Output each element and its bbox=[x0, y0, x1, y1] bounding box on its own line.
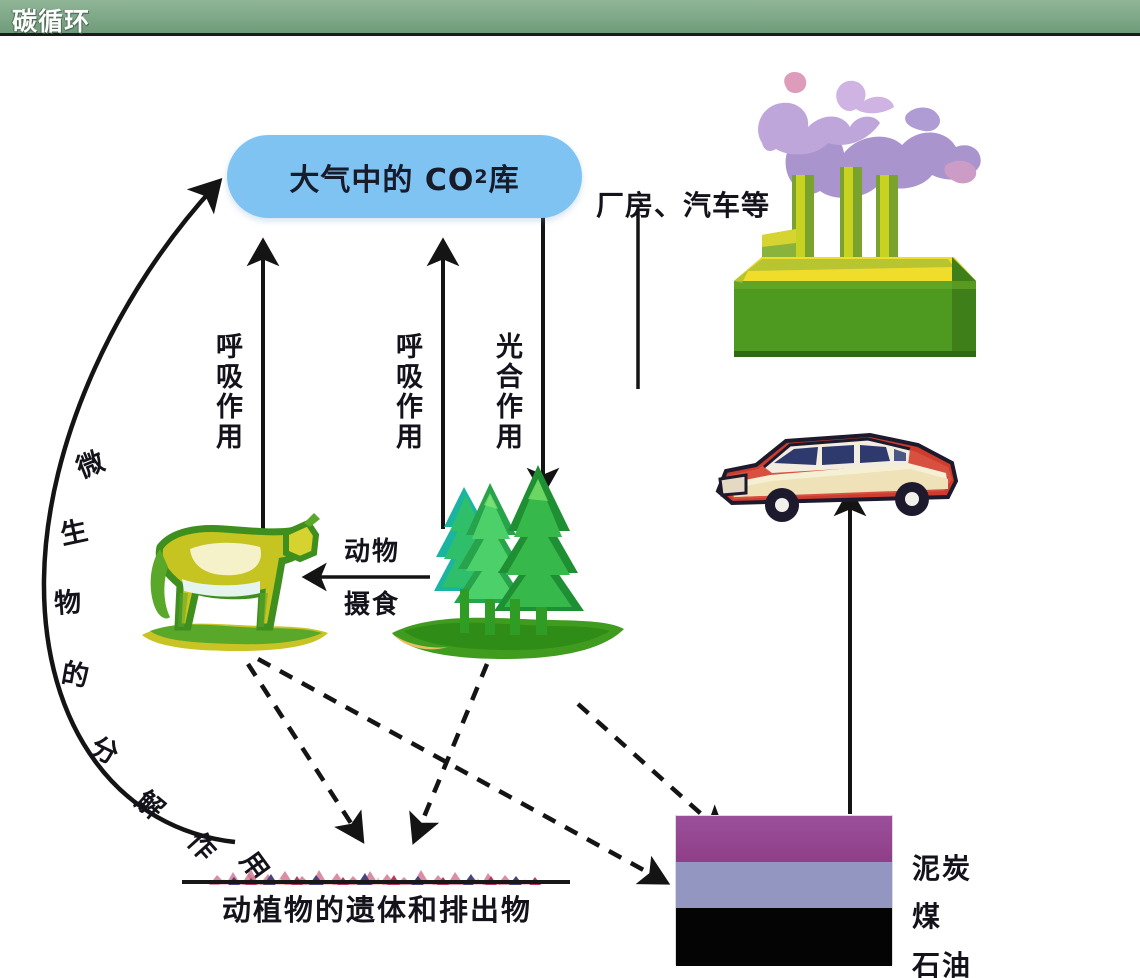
atmosphere-co2-label: 大气中的 CO2库 bbox=[227, 135, 582, 218]
fossil-fuel-stack[interactable] bbox=[675, 815, 893, 965]
carbon-cycle-page: 碳循环 bbox=[0, 0, 1140, 978]
header-bar: 碳循环 bbox=[0, 0, 1140, 36]
fossil-layer-peat bbox=[676, 816, 892, 862]
fossil-layer-oil bbox=[676, 908, 892, 966]
co2-label-subscript: 2 bbox=[474, 166, 488, 188]
diagram-canvas: 大气中的 CO2库 厂房、汽车等 呼吸作用 呼吸作用 光合作用 动物 摄食 动植… bbox=[0, 39, 1140, 978]
fossil-layer-coal bbox=[676, 862, 892, 908]
arrow-trees-to-fossil bbox=[578, 704, 718, 829]
fossil-label-oil: 石油 bbox=[912, 944, 972, 978]
co2-label-suffix: 库 bbox=[489, 155, 520, 199]
photosynthesis-label: 光合作用 bbox=[487, 332, 526, 452]
smoke-plumes bbox=[758, 72, 981, 198]
fossil-label-peat: 泥炭 bbox=[912, 847, 972, 887]
factory-illustration bbox=[718, 57, 988, 397]
arrow-trees-to-detritus bbox=[417, 664, 487, 834]
atmosphere-co2-pool[interactable]: 大气中的 CO2库 bbox=[227, 135, 582, 218]
decomposition-char-2: 物 bbox=[53, 580, 83, 621]
respiration-cow-label: 呼吸作用 bbox=[207, 332, 246, 452]
arrow-cow-to-detritus bbox=[248, 664, 358, 834]
trees-illustration bbox=[388, 439, 628, 669]
car-illustration bbox=[712, 419, 962, 529]
detritus-label: 动植物的遗体和排出物 bbox=[222, 887, 532, 929]
co2-label-prefix: 大气中的 CO bbox=[289, 155, 474, 199]
chimneys bbox=[792, 167, 898, 265]
page-title: 碳循环 bbox=[12, 2, 90, 38]
detritus-baseline bbox=[182, 880, 570, 884]
respiration-plant-label: 呼吸作用 bbox=[387, 332, 426, 452]
fossil-label-coal: 煤 bbox=[912, 895, 942, 935]
cow-illustration bbox=[138, 501, 338, 666]
